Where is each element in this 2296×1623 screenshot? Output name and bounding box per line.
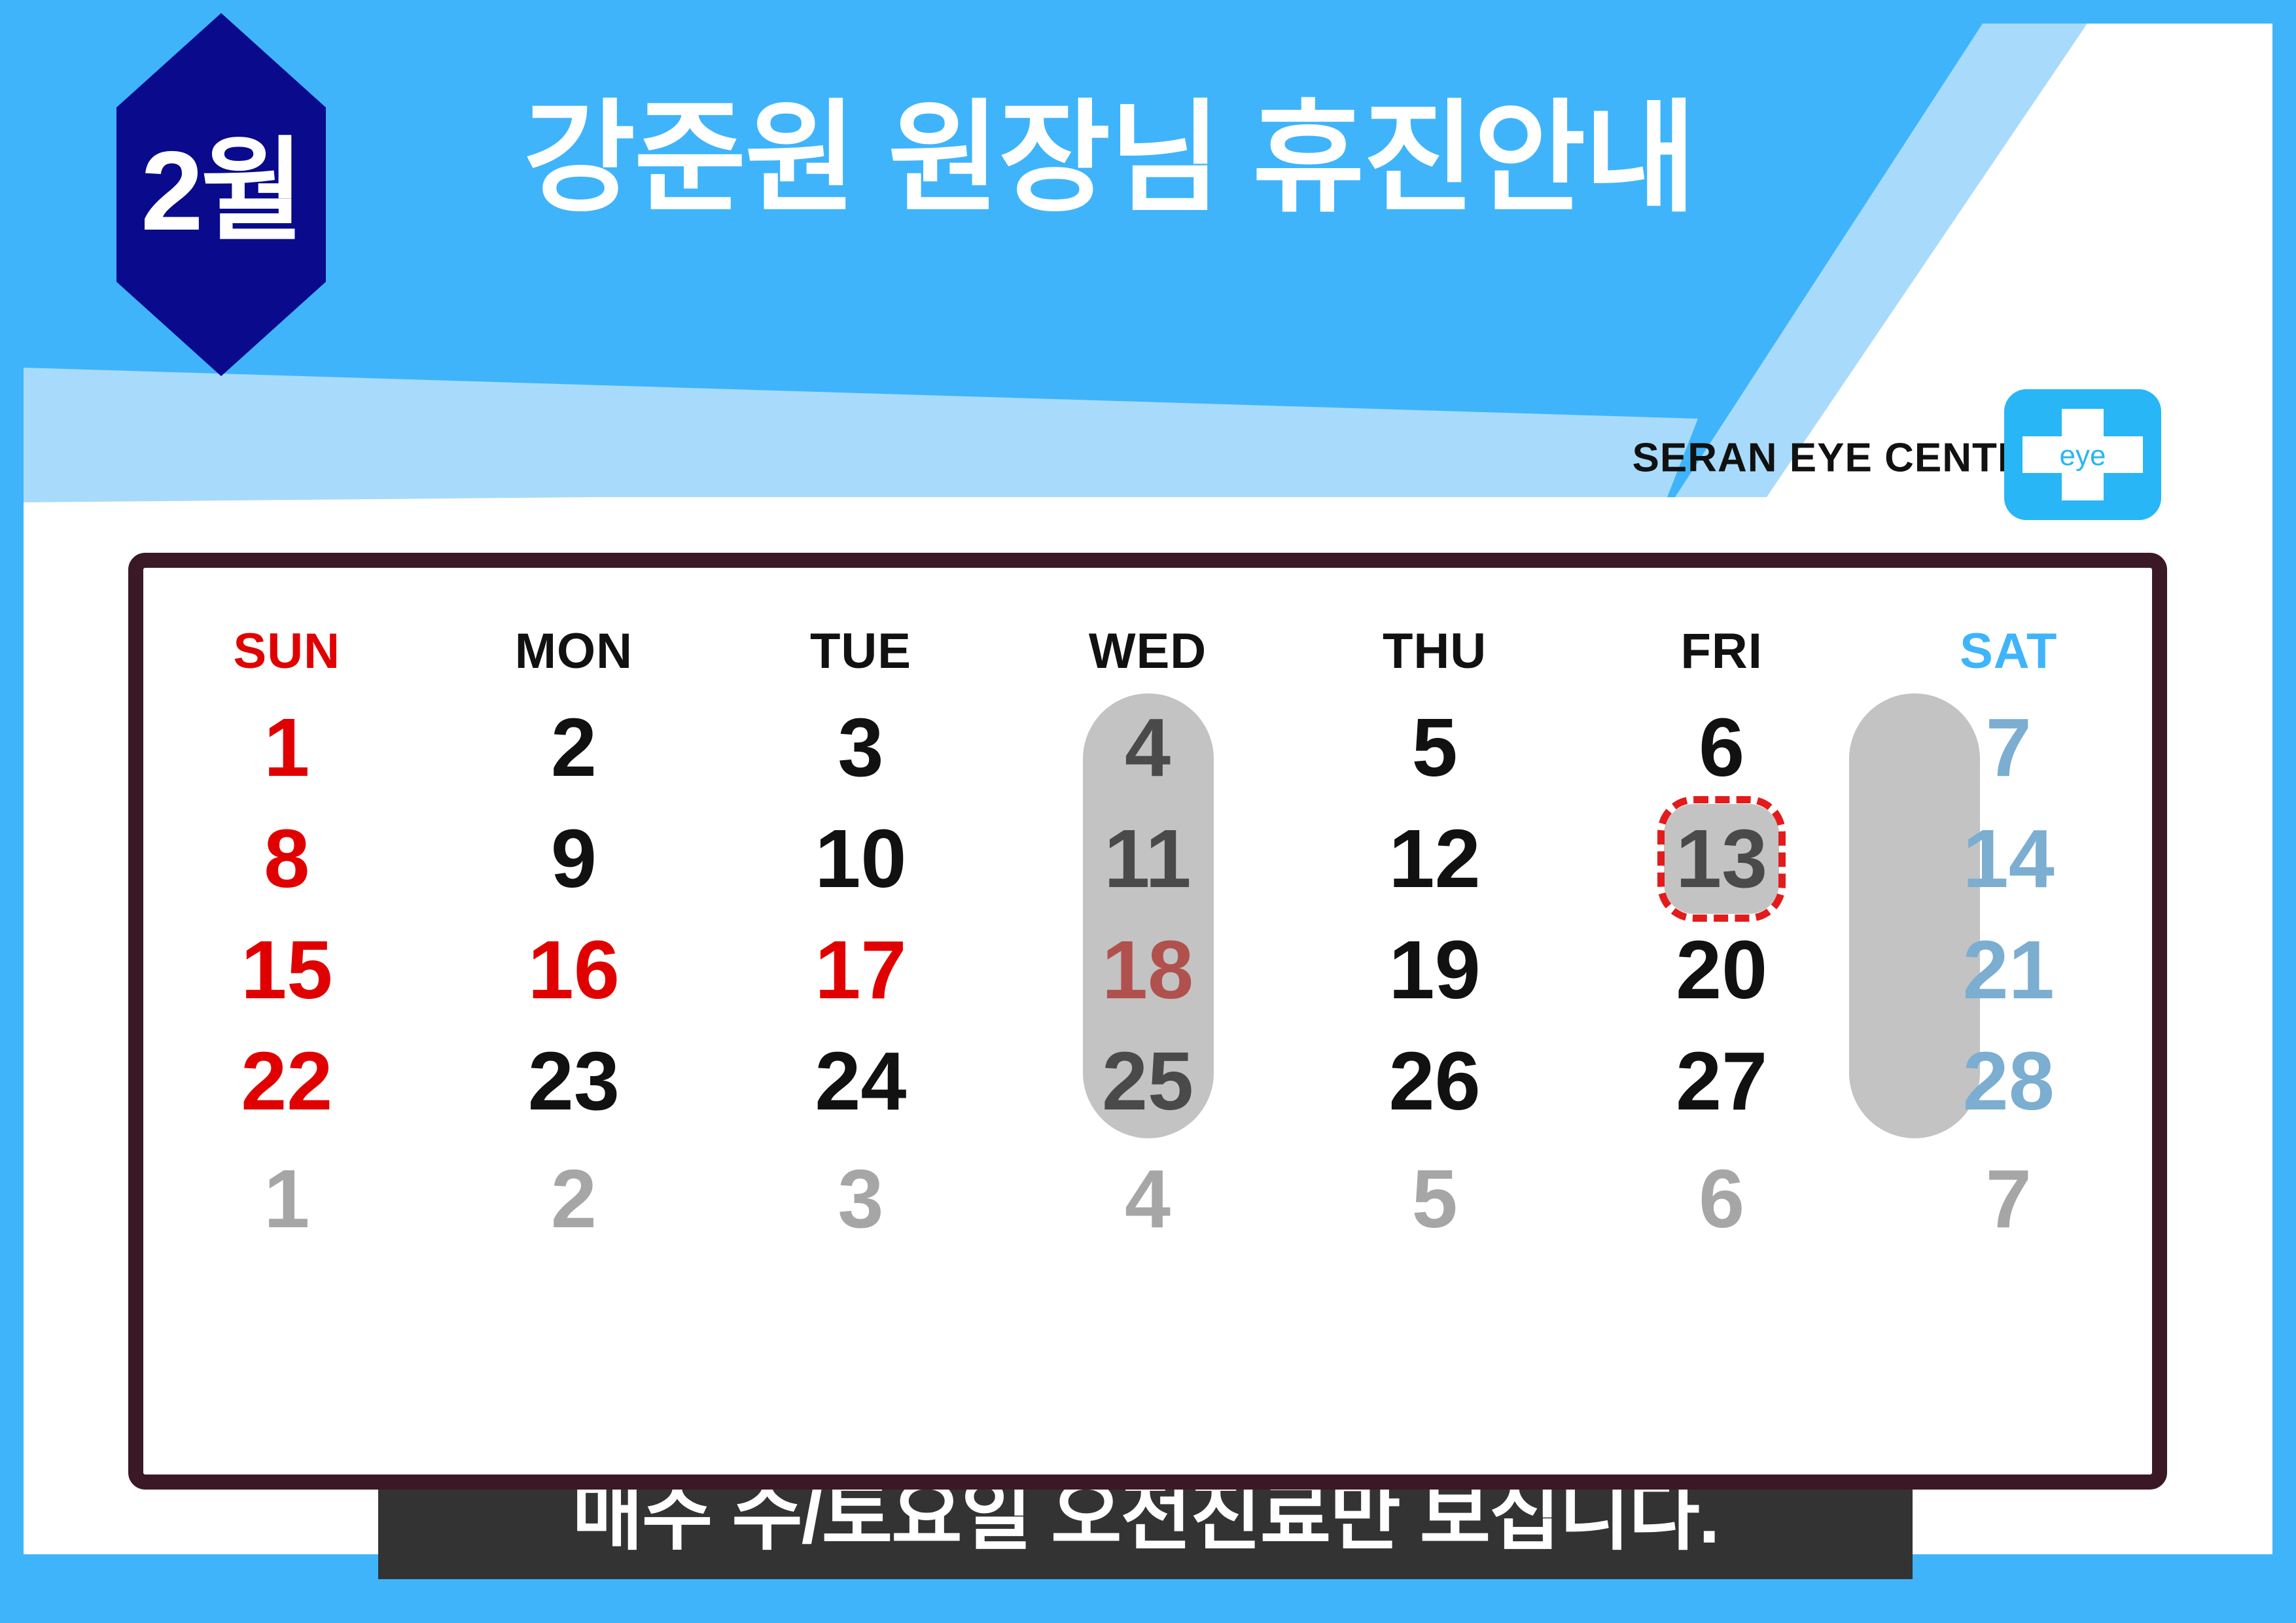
date-number: 11 (1104, 818, 1191, 900)
calendar-cell[interactable]: 2 (431, 1143, 718, 1255)
calendar-cell[interactable]: 7 (1865, 1143, 2152, 1255)
date-number: 6 (1699, 1158, 1744, 1240)
date-number: 7 (1986, 707, 2032, 789)
date-number: 28 (1963, 1040, 2055, 1123)
calendar-cell[interactable]: 24 (717, 1026, 1004, 1137)
calendar-week-row-next-month: 1 2 3 4 5 6 7 (143, 1143, 2152, 1255)
date-number: 25 (1102, 1040, 1193, 1123)
calendar-cell[interactable]: 25 (1004, 1026, 1292, 1137)
calendar-cell[interactable]: 16 (431, 915, 718, 1026)
day-header-wed: WED (1004, 615, 1292, 687)
calendar-cell[interactable]: 1 (143, 692, 431, 803)
day-header-mon: MON (431, 615, 718, 687)
calendar-cell[interactable]: 1 (143, 1143, 431, 1255)
calendar-cell[interactable]: 9 (431, 803, 718, 915)
date-number: 4 (1125, 707, 1171, 789)
date-number: 8 (264, 818, 309, 900)
poster-root: 2월 강준원 원장님 휴진안내 SERAN EYE CENTER eye 매주 … (0, 0, 2296, 1623)
date-number: 18 (1102, 929, 1193, 1011)
date-number: 5 (1412, 1158, 1458, 1240)
date-number: 1 (264, 1158, 309, 1240)
calendar-cell[interactable]: 10 (717, 803, 1004, 915)
calendar-cell[interactable]: 26 (1291, 1026, 1578, 1137)
calendar-cell[interactable]: 4 (1004, 692, 1292, 803)
calendar-card: SUN MON TUE WED THU FRI SAT 1 2 3 4 5 6 … (128, 553, 2167, 1490)
date-number: 10 (815, 818, 906, 900)
date-number: 16 (528, 929, 620, 1011)
calendar-cell[interactable]: 27 (1578, 1026, 1865, 1137)
date-number: 20 (1676, 929, 1767, 1011)
calendar-cell[interactable]: 28 (1865, 1026, 2152, 1137)
date-number: 2 (551, 1158, 597, 1240)
day-header-sun: SUN (143, 615, 431, 687)
calendar-cell[interactable]: 22 (143, 1026, 431, 1137)
day-header-thu: THU (1291, 615, 1578, 687)
calendar-cell[interactable]: 5 (1291, 1143, 1578, 1255)
date-number: 4 (1125, 1158, 1171, 1240)
date-number: 6 (1699, 707, 1744, 789)
calendar-week-row: 15 16 17 18 19 20 21 (143, 915, 2152, 1026)
calendar-cell[interactable]: 23 (431, 1026, 718, 1137)
date-number: 15 (241, 929, 332, 1011)
day-of-week-header: SUN MON TUE WED THU FRI SAT (143, 615, 2152, 687)
date-number: 12 (1389, 818, 1481, 900)
date-number: 27 (1676, 1040, 1767, 1123)
calendar-cell[interactable]: 21 (1865, 915, 2152, 1026)
date-number: 23 (528, 1040, 620, 1123)
brand-name: SERAN EYE CENTER (1633, 435, 2055, 481)
calendar-cell[interactable]: 6 (1578, 1143, 1865, 1255)
calendar-week-row: 1 2 3 4 5 6 7 (143, 692, 2152, 803)
calendar-cell[interactable]: 7 (1865, 692, 2152, 803)
page-title: 강준원 원장님 휴진안내 (523, 95, 1695, 222)
calendar-cell[interactable]: 17 (717, 915, 1004, 1026)
date-number: 26 (1389, 1040, 1481, 1123)
calendar-cell[interactable]: 15 (143, 915, 431, 1026)
date-number: 17 (815, 929, 906, 1011)
calendar-cell-marked[interactable]: 13 (1578, 803, 1865, 915)
day-header-tue: TUE (717, 615, 1004, 687)
calendar-cell[interactable]: 5 (1291, 692, 1578, 803)
date-number: 2 (551, 707, 597, 789)
day-header-sat: SAT (1865, 615, 2152, 687)
calendar-week-row: 22 23 24 25 26 27 28 (143, 1026, 2152, 1137)
calendar-cell[interactable]: 2 (431, 692, 718, 803)
date-number: 5 (1412, 707, 1458, 789)
calendar-cell[interactable]: 19 (1291, 915, 1578, 1026)
calendar-cell[interactable]: 3 (717, 1143, 1004, 1255)
calendar-cell[interactable]: 14 (1865, 803, 2152, 915)
logo-wordmark: eye (2060, 440, 2106, 472)
date-number: 9 (551, 818, 597, 900)
calendar-cell[interactable]: 11 (1004, 803, 1292, 915)
date-number: 3 (838, 1158, 883, 1240)
date-number: 7 (1986, 1158, 2032, 1240)
calendar-week-row: 8 9 10 11 12 13 14 (143, 803, 2152, 915)
date-number: 3 (838, 707, 883, 789)
medical-cross-icon: eye (2004, 389, 2161, 520)
date-number: 19 (1389, 929, 1481, 1011)
calendar-cell[interactable]: 8 (143, 803, 431, 915)
date-number: 1 (264, 707, 309, 789)
calendar-cell[interactable]: 12 (1291, 803, 1578, 915)
date-number: 22 (241, 1040, 332, 1123)
calendar-cell[interactable]: 6 (1578, 692, 1865, 803)
date-number: 21 (1963, 929, 2055, 1011)
clinic-logo: eye (2004, 389, 2161, 520)
calendar-cell[interactable]: 4 (1004, 1143, 1292, 1255)
marked-date-dashed-ring (1657, 796, 1786, 922)
calendar-grid: SUN MON TUE WED THU FRI SAT 1 2 3 4 5 6 … (143, 568, 2152, 1475)
calendar-cell[interactable]: 3 (717, 692, 1004, 803)
date-number: 14 (1963, 818, 2055, 900)
day-header-fri: FRI (1578, 615, 1865, 687)
calendar-cell[interactable]: 20 (1578, 915, 1865, 1026)
month-badge-label: 2월 (141, 135, 302, 247)
calendar-cell[interactable]: 18 (1004, 915, 1292, 1026)
date-number: 24 (815, 1040, 906, 1123)
